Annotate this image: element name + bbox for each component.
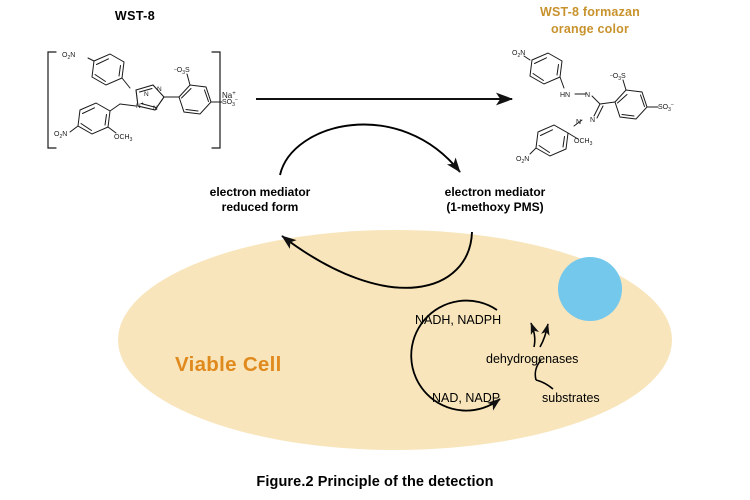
mediator-oxidized-line1: electron mediator [445, 185, 546, 199]
nadh-label: NADH, NADPH [415, 313, 535, 329]
figure-caption: Figure.2 Principle of the detection [175, 473, 575, 491]
substrates-label: substrates [542, 391, 632, 407]
formazan-title-line1: WST-8 formazan [540, 5, 640, 19]
diagram-layer [0, 0, 750, 500]
wst8-title: WST-8 [80, 9, 190, 25]
mediator-reduced-line1: electron mediator [210, 185, 311, 199]
mediator-reduced-line2: reduced form [222, 200, 299, 214]
figure-canvas: O2N O2N OCH3 –O3S SO3– N N N N+ Na+ [0, 0, 750, 500]
mediator-oxidized-line2: (1-methoxy PMS) [446, 200, 543, 214]
cell-nucleus [558, 257, 622, 321]
mediator-reduced-label: electron mediator reduced form [190, 185, 330, 215]
nad-label: NAD, NADP [432, 391, 542, 407]
mediator-oxidized-label: electron mediator (1-methoxy PMS) [420, 185, 570, 215]
viable-cell-label: Viable Cell [175, 352, 310, 378]
dehydrogenases-label: dehydrogenases [486, 352, 606, 368]
formazan-title-line2: orange color [551, 22, 629, 36]
formazan-title: WST-8 formazan orange color [515, 4, 665, 38]
mediator-oxidation-arc [280, 125, 460, 175]
